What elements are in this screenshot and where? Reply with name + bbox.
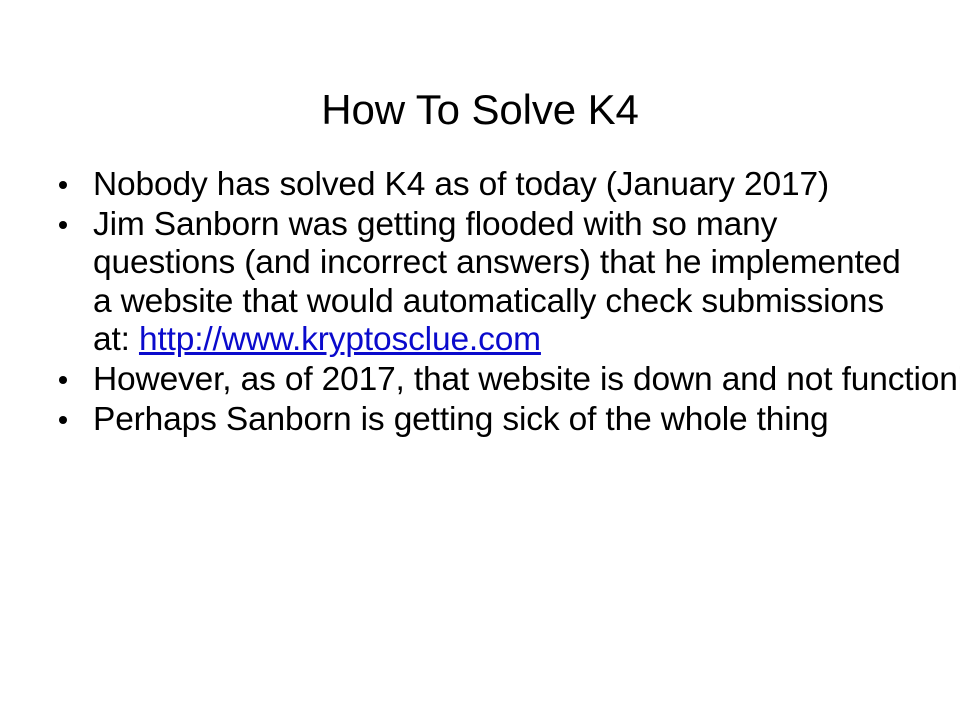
list-item-website-down: However, as of 2017, that website is dow… [52,361,920,400]
kryptosclue-website-link[interactable]: http://www.kryptosclue.com [139,321,541,358]
bullet-dot-icon [59,416,67,424]
bullet-list: Nobody has solved K4 as of today (Januar… [52,166,920,439]
bullet-dot-icon [59,181,67,189]
list-item-perhaps-sick: Perhaps Sanborn is getting sick of the w… [52,401,920,440]
bullet-text-nobody-solved: Nobody has solved K4 as of today (Januar… [93,166,829,203]
presentation-slide: How To Solve K4 Nobody has solved K4 as … [0,0,960,720]
slide-body: Nobody has solved K4 as of today (Januar… [52,166,920,440]
bullet-text-website-down: However, as of 2017, that website is dow… [93,361,960,398]
bullet-dot-icon [59,376,67,384]
page-title: How To Solve K4 [60,86,900,133]
bullet-text-perhaps-sick: Perhaps Sanborn is getting sick of the w… [93,401,829,438]
list-item-jim-sanborn-website: Jim Sanborn was getting flooded with so … [52,206,920,360]
list-item-nobody-solved: Nobody has solved K4 as of today (Januar… [52,166,920,205]
bullet-dot-icon [59,221,67,229]
